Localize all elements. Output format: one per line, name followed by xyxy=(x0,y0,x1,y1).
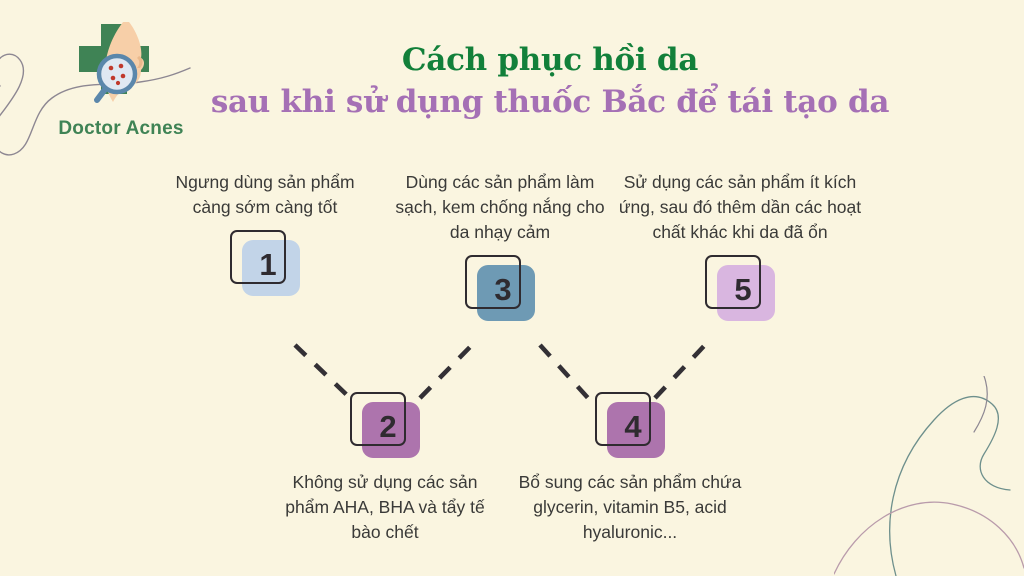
step-5: Sử dụng các sản phẩm ít kích ứng, sau đó… xyxy=(615,170,865,321)
step-2: 2 Không sử dụng các sản phẩm AHA, BHA và… xyxy=(275,392,495,545)
step-1-caption: Ngưng dùng sản phẩm càng sớm càng tốt xyxy=(155,170,375,220)
infographic-canvas: Doctor Acnes Cách phục hồi da sau khi sử… xyxy=(0,0,1024,576)
step-5-badge[interactable]: 5 xyxy=(705,255,775,321)
step-3-number: 3 xyxy=(465,255,535,321)
connector-4-5 xyxy=(655,345,705,398)
step-3-caption: Dùng các sản phẩm làm sạch, kem chống nắ… xyxy=(390,170,610,245)
step-3-badge[interactable]: 3 xyxy=(465,255,535,321)
connector-2-3 xyxy=(420,345,472,398)
step-5-number: 5 xyxy=(705,255,775,321)
step-4: 4 Bổ sung các sản phẩm chứa glycerin, vi… xyxy=(515,392,745,545)
step-4-caption: Bổ sung các sản phẩm chứa glycerin, vita… xyxy=(515,470,745,545)
step-4-badge[interactable]: 4 xyxy=(595,392,665,458)
step-3: Dùng các sản phẩm làm sạch, kem chống nắ… xyxy=(390,170,610,321)
step-2-caption: Không sử dụng các sản phẩm AHA, BHA và t… xyxy=(275,470,495,545)
step-1-badge[interactable]: 1 xyxy=(230,230,300,296)
connector-1-2 xyxy=(295,345,350,398)
step-2-number: 2 xyxy=(350,392,420,458)
step-1-number: 1 xyxy=(230,230,300,296)
step-1: Ngưng dùng sản phẩm càng sớm càng tốt 1 xyxy=(155,170,375,296)
connector-3-4 xyxy=(540,345,588,398)
step-5-caption: Sử dụng các sản phẩm ít kích ứng, sau đó… xyxy=(615,170,865,245)
step-4-number: 4 xyxy=(595,392,665,458)
step-2-badge[interactable]: 2 xyxy=(350,392,420,458)
